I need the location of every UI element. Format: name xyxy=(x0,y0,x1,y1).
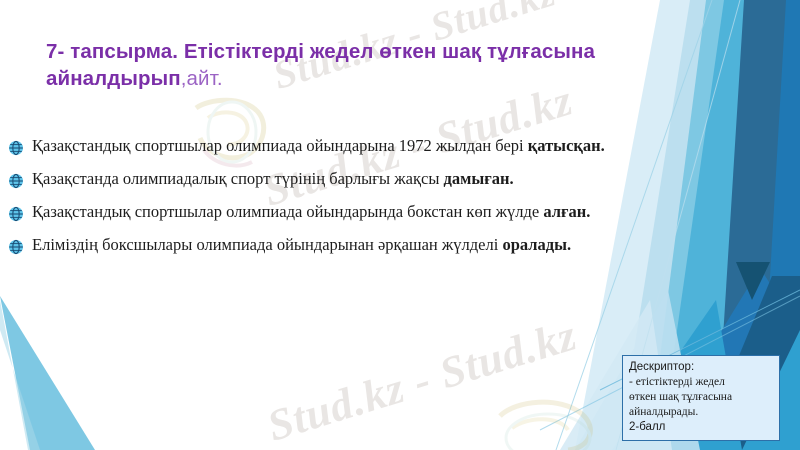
bullet-text-2: Қазақстанда олимпиадалық спорт түрінің б… xyxy=(32,169,514,190)
descriptor-box: Дескриптор: - етістіктерді жедел өткен ш… xyxy=(622,355,780,441)
list-item: Қазақстандық спортшылар олимпиада ойында… xyxy=(8,202,748,235)
list-item: Еліміздің боксшылары олимпиада ойындарын… xyxy=(8,235,748,268)
watermark-bottom: Stud.kz - Stud.kz xyxy=(262,309,583,450)
bullet-text-3-bold: алған. xyxy=(543,202,590,221)
title-line-2-bold: айналдырып xyxy=(46,67,181,90)
globe-bullet-icon xyxy=(8,140,24,156)
presentation-slide: Stud.kz - Stud.kz Stud.kz - Stud.kz Stud… xyxy=(0,0,800,450)
decor-left-wedge-pale xyxy=(0,300,40,450)
descriptor-line-3: айналдырады. xyxy=(629,405,773,420)
title-line-2-soft: ,айт. xyxy=(181,67,223,90)
list-item: Қазақстанда олимпиадалық спорт түрінің б… xyxy=(8,169,748,202)
bullet-text-4: Еліміздің боксшылары олимпиада ойындарын… xyxy=(32,235,571,256)
bullet-text-1-normal: Қазақстандық спортшылар олимпиада ойында… xyxy=(32,136,528,155)
descriptor-line-2: өткен шақ тұлғасына xyxy=(629,390,773,405)
slide-title: 7- тапсырма. Етістіктерді жедел өткен ша… xyxy=(46,38,696,92)
bullet-text-1: Қазақстандық спортшылар олимпиада ойында… xyxy=(32,136,605,157)
decor-left-wedge xyxy=(0,296,95,450)
list-item: Қазақстандық спортшылар олимпиада ойында… xyxy=(8,136,748,169)
bullet-text-4-normal: Еліміздің боксшылары олимпиада ойындарын… xyxy=(32,235,502,254)
globe-bullet-icon xyxy=(8,173,24,189)
globe-bullet-icon xyxy=(8,239,24,255)
bullet-text-3: Қазақстандық спортшылар олимпиада ойында… xyxy=(32,202,590,223)
bullet-text-4-bold: оралады. xyxy=(502,235,571,254)
globe-bullet-icon xyxy=(8,206,24,222)
descriptor-line-1: - етістіктерді жедел xyxy=(629,375,773,390)
bullet-text-1-bold: қатысқан. xyxy=(528,136,605,155)
title-line-2: айналдырып,айт. xyxy=(46,65,696,92)
bullet-text-2-bold: дамыған. xyxy=(444,169,514,188)
bullet-list: Қазақстандық спортшылар олимпиада ойында… xyxy=(8,136,748,268)
descriptor-title: Дескриптор: xyxy=(629,360,773,375)
descriptor-score: 2-балл xyxy=(629,420,773,435)
bullet-text-2-normal: Қазақстанда олимпиадалық спорт түрінің б… xyxy=(32,169,444,188)
bullet-text-3-normal: Қазақстандық спортшылар олимпиада ойында… xyxy=(32,202,543,221)
logo-watermark-bottom xyxy=(500,402,590,450)
title-line-1: 7- тапсырма. Етістіктерді жедел өткен ша… xyxy=(46,38,696,65)
